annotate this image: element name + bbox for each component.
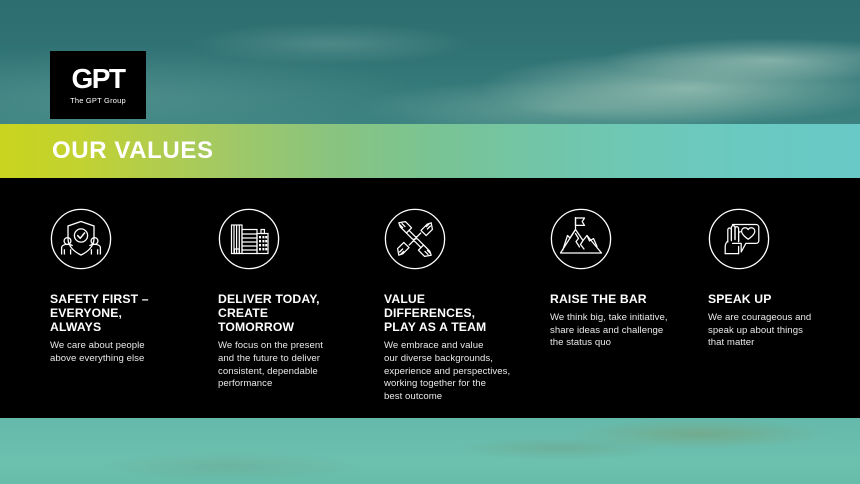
- value-card-speak-up: SPEAK UP We are courageous and speak up …: [655, 178, 860, 418]
- hand-speech-heart-icon: [708, 208, 770, 270]
- logo-tagline: The GPT Group: [70, 97, 126, 105]
- value-card-raise-the-bar: RAISE THE BAR We think big, take initiat…: [498, 178, 655, 418]
- value-card-deliver-today: DELIVER TODAY, CREATE TOMORROW We focus …: [168, 178, 333, 418]
- page-title: OUR VALUES: [52, 137, 214, 165]
- value-body: We are courageous and speak up about thi…: [708, 312, 833, 350]
- value-title: DELIVER TODAY, CREATE TOMORROW: [218, 292, 343, 334]
- shield-people-icon: [50, 208, 112, 270]
- value-title: SPEAK UP: [708, 292, 833, 306]
- value-card-value-differences: VALUE DIFFERENCES, PLAY AS A TEAM We emb…: [333, 178, 498, 418]
- value-title: SAFETY FIRST – EVERYONE, ALWAYS: [50, 292, 172, 334]
- value-title: RAISE THE BAR: [550, 292, 670, 306]
- value-title: VALUE DIFFERENCES, PLAY AS A TEAM: [384, 292, 516, 334]
- value-body: We embrace and value our diverse backgro…: [384, 340, 516, 403]
- values-list: SAFETY FIRST – EVERYONE, ALWAYS We care …: [0, 178, 860, 418]
- values-panel: SAFETY FIRST – EVERYONE, ALWAYS We care …: [0, 178, 860, 418]
- sky-background-bottom: [0, 412, 860, 484]
- logo-wordmark: GPT: [71, 65, 124, 93]
- value-body: We focus on the present and the future t…: [218, 340, 343, 391]
- value-body: We think big, take initiative, share ide…: [550, 312, 670, 350]
- our-values-banner: OUR VALUES: [0, 124, 860, 178]
- gpt-logo: GPT The GPT Group: [50, 51, 146, 119]
- handshake-icon: [384, 208, 446, 270]
- mountain-flag-icon: [550, 208, 612, 270]
- value-body: We care about people above everything el…: [50, 340, 172, 365]
- value-card-safety-first: SAFETY FIRST – EVERYONE, ALWAYS We care …: [0, 178, 168, 418]
- values-slide: GPT The GPT Group OUR VALUES: [0, 0, 860, 484]
- buildings-icon: [218, 208, 280, 270]
